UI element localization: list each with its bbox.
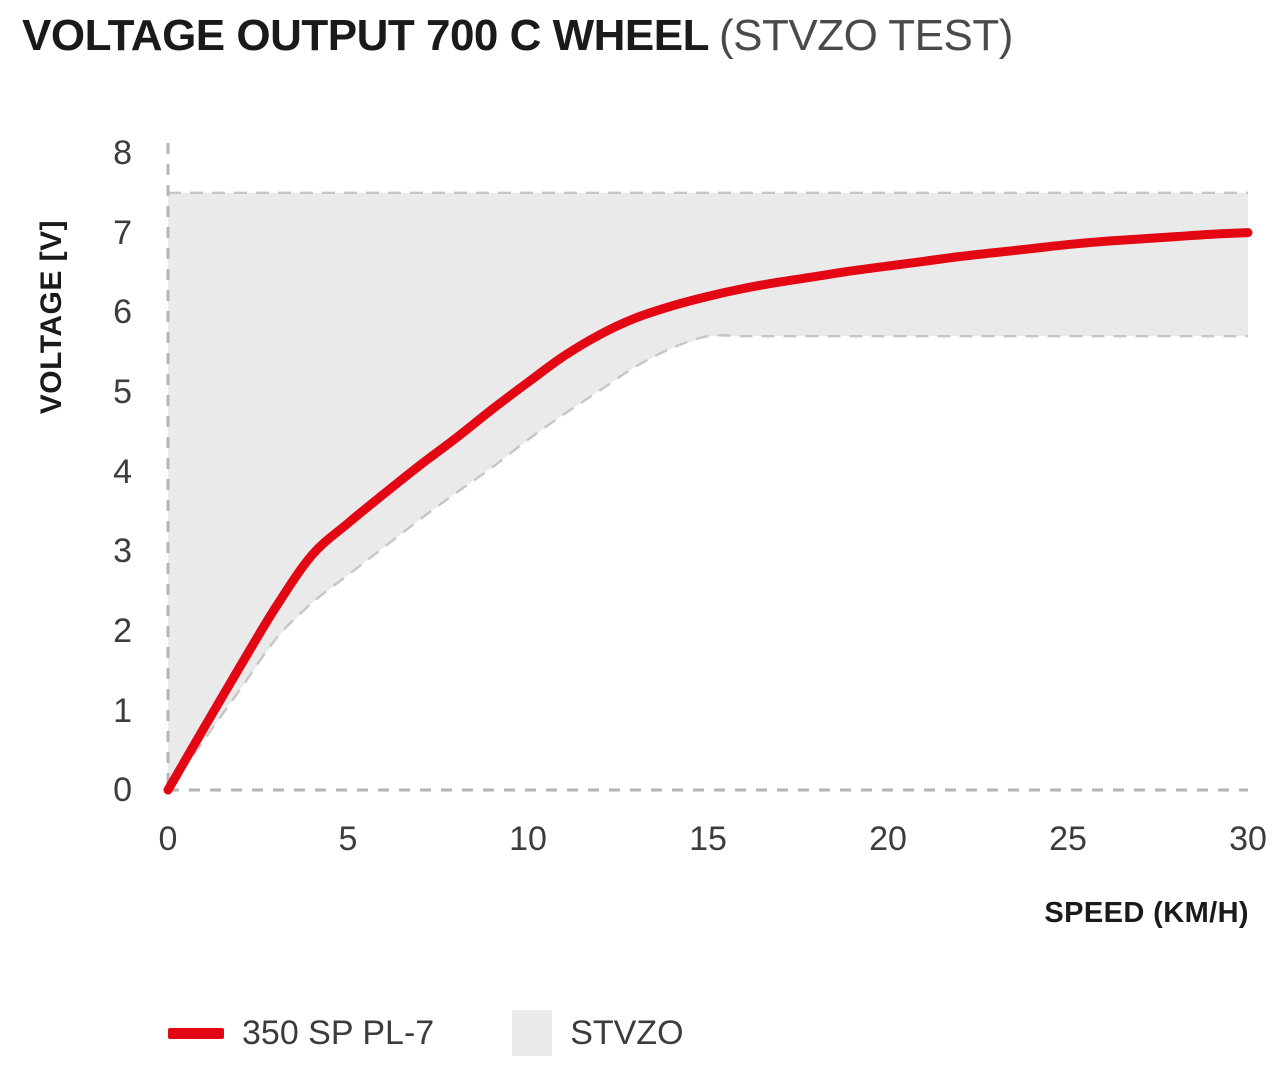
legend-item-stvzo: STVZO: [512, 1010, 683, 1056]
legend-label-350-sp-pl-7: 350 SP PL-7: [242, 1016, 434, 1050]
legend-line-swatch-icon: [168, 1028, 224, 1039]
stvzo-band: [168, 193, 1248, 790]
chart-legend: 350 SP PL-7 STVZO: [168, 1010, 684, 1056]
legend-label-stvzo: STVZO: [570, 1016, 683, 1050]
legend-item-350-sp-pl-7: 350 SP PL-7: [168, 1016, 434, 1050]
legend-area-swatch-icon: [512, 1010, 552, 1056]
chart-figure: VOLTAGE OUTPUT 700 C WHEEL(STVZO TEST) V…: [0, 0, 1287, 1080]
plot-area: [0, 0, 1287, 1080]
